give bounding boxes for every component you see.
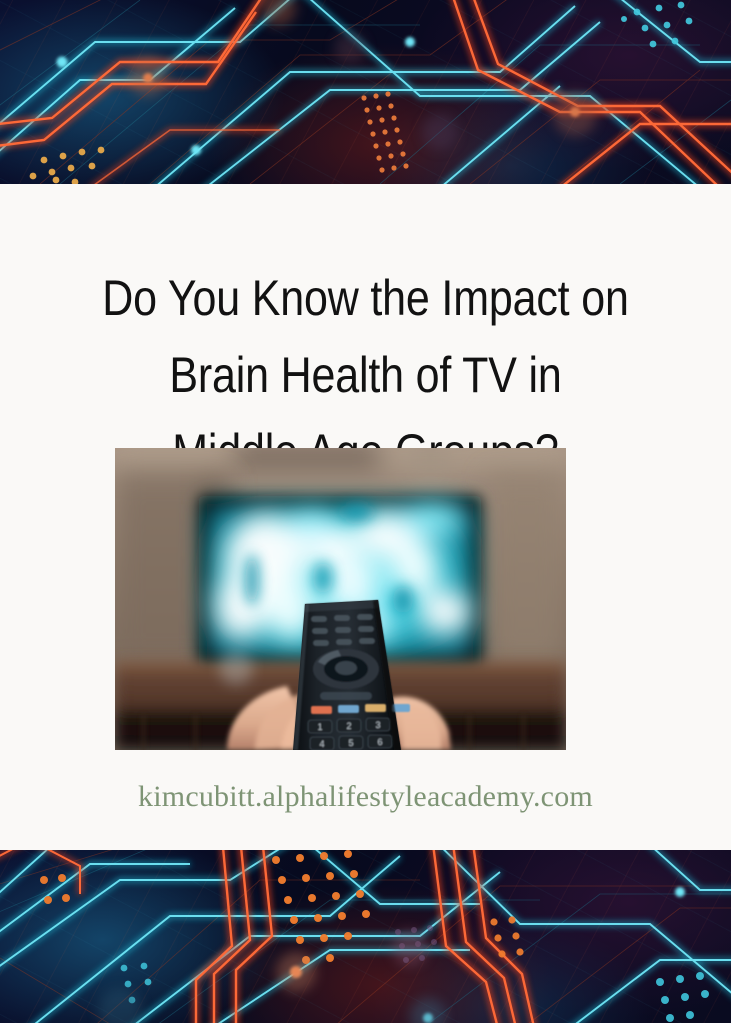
dot-grid-orange-bottom bbox=[272, 850, 370, 964]
pinterest-pin: Do You Know the Impact on Brain Health o… bbox=[0, 0, 731, 1023]
circuit-node-glows-bottom bbox=[290, 887, 685, 1023]
circuit-banner-top bbox=[0, 0, 731, 184]
remote-top-buttons bbox=[311, 614, 375, 646]
hero-photo-tv-remote: 123 456 bbox=[115, 448, 566, 750]
bokeh-highlights bbox=[128, 0, 597, 150]
dot-cluster-cyan-right bbox=[656, 972, 709, 1022]
circuit-traces-bottom bbox=[0, 850, 731, 1023]
svg-text:5: 5 bbox=[348, 738, 353, 748]
svg-text:1: 1 bbox=[317, 722, 322, 732]
svg-text:3: 3 bbox=[375, 720, 380, 730]
content-area: Do You Know the Impact on Brain Health o… bbox=[0, 184, 731, 850]
circuit-traces-top bbox=[0, 0, 731, 184]
dot-grid-orange bbox=[361, 91, 408, 172]
website-url[interactable]: kimcubitt.alphalifestyleacademy.com bbox=[0, 780, 731, 814]
svg-text:2: 2 bbox=[346, 721, 351, 731]
remote-dpad bbox=[313, 649, 379, 689]
circuit-banner-bottom bbox=[0, 850, 731, 1023]
svg-text:6: 6 bbox=[377, 737, 382, 747]
tv-remote-illustration: 123 456 bbox=[115, 448, 566, 750]
svg-text:4: 4 bbox=[319, 739, 324, 749]
